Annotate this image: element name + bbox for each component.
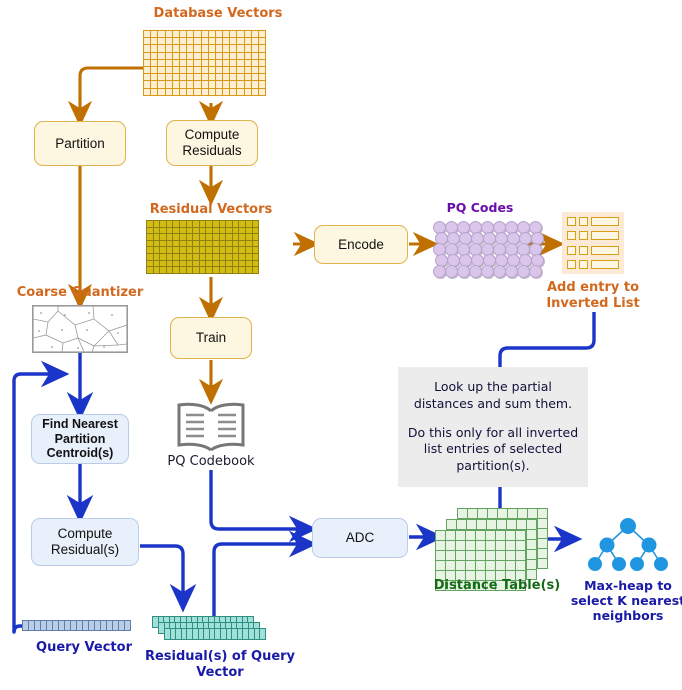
- compute-residuals-box[interactable]: Compute Residuals: [166, 120, 258, 166]
- query-residuals-label: Residual(s) of Query Vector: [140, 649, 300, 680]
- distance-tables-icon: [435, 508, 545, 578]
- add-entry-inverted-list-label: Add entry to Inverted List: [529, 280, 657, 311]
- pq-codes-icon: [433, 221, 543, 276]
- compute-residuals-query-box[interactable]: Compute Residual(s): [31, 518, 139, 566]
- train-box[interactable]: Train: [170, 317, 252, 359]
- voronoi-icon: [32, 305, 128, 353]
- inverted-list-icon[interactable]: [562, 212, 624, 274]
- residual-vectors-label: Residual Vectors: [136, 202, 286, 218]
- annotation-panel: Look up the partial distances and sum th…: [398, 367, 588, 487]
- max-heap-label: Max-heap to select K nearest neighbors: [566, 578, 682, 623]
- coarse-quantizer-label: Coarse Quantizer: [16, 285, 144, 301]
- adc-box[interactable]: ADC: [312, 518, 408, 558]
- max-heap-icon: [586, 514, 670, 576]
- annotation-line-1: Look up the partial distances and sum th…: [406, 379, 580, 413]
- pq-codebook-label: PQ Codebook: [151, 454, 271, 470]
- find-nearest-partition-centroids-box[interactable]: Find Nearest Partition Centroid(s): [31, 414, 129, 464]
- database-vectors-matrix: [143, 30, 265, 95]
- query-vector-bar: [22, 620, 130, 631]
- annotation-line-2: Do this only for all inverted list entri…: [406, 425, 580, 476]
- database-vectors-label: Database Vectors: [143, 6, 293, 22]
- query-residuals-stack: [152, 616, 286, 650]
- pq-codebook-icon: [174, 400, 248, 452]
- residual-vectors-matrix: [146, 220, 258, 273]
- partition-box[interactable]: Partition: [34, 121, 126, 166]
- encode-box[interactable]: Encode: [314, 225, 408, 264]
- distance-tables-label: Distance Table(s): [423, 578, 571, 594]
- query-vector-label: Query Vector: [10, 640, 158, 656]
- pq-codes-label: PQ Codes: [432, 200, 528, 215]
